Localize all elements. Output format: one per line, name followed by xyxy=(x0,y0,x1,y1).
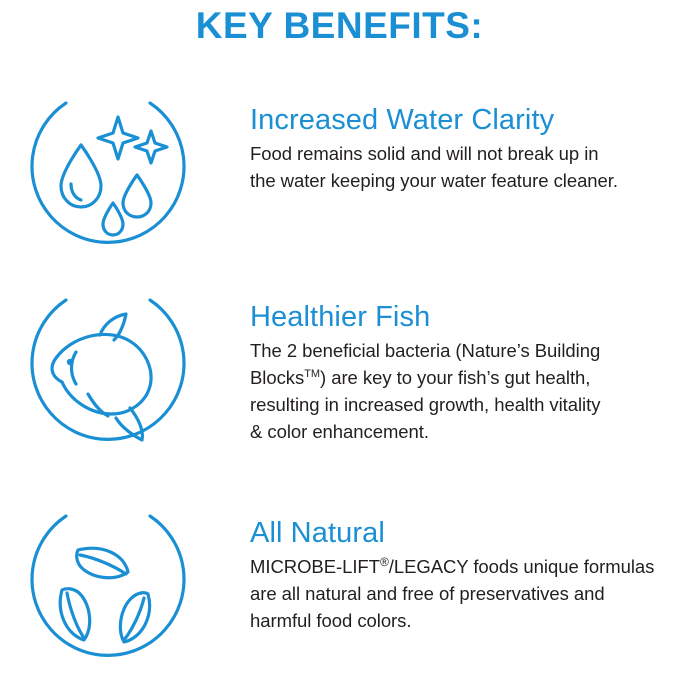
water-drops-sparkle-icon xyxy=(18,85,198,265)
benefit-text-block: Healthier Fish The 2 beneficial bacteria… xyxy=(250,300,675,445)
benefit-body-line: harmful food colors. xyxy=(250,610,411,631)
benefit-body-line: The 2 beneficial bacteria (Nature’s Buil… xyxy=(250,340,600,361)
benefit-body: MICROBE-LIFT®/LEGACY foods unique formul… xyxy=(250,553,675,634)
benefit-text-block: Increased Water Clarity Food remains sol… xyxy=(250,103,675,194)
benefit-body: The 2 beneficial bacteria (Nature’s Buil… xyxy=(250,337,675,445)
registered-mark: ® xyxy=(380,555,389,569)
benefit-body-line: /LEGACY foods unique formulas xyxy=(389,556,655,577)
benefit-title: All Natural xyxy=(250,516,675,550)
benefit-body-line: ) are key to your fish’s gut health, xyxy=(320,367,590,388)
benefit-title: Healthier Fish xyxy=(250,300,675,334)
benefit-body: Food remains solid and will not break up… xyxy=(250,140,675,194)
trademark-superscript: TM xyxy=(304,368,320,380)
benefit-body-line: Food remains solid and will not break up… xyxy=(250,143,599,164)
page-title: KEY BENEFITS: xyxy=(0,0,679,52)
benefit-body-line: resulting in increased growth, health vi… xyxy=(250,394,600,415)
fish-icon xyxy=(18,282,198,462)
benefit-body-line: Blocks xyxy=(250,367,304,388)
benefit-title: Increased Water Clarity xyxy=(250,103,675,137)
benefit-body-line: MICROBE-LIFT xyxy=(250,556,380,577)
benefit-body-line: the water keeping your water feature cle… xyxy=(250,170,618,191)
benefit-body-line: & color enhancement. xyxy=(250,421,429,442)
leaves-recycle-icon xyxy=(18,498,198,678)
benefit-text-block: All Natural MICROBE-LIFT®/LEGACY foods u… xyxy=(250,516,675,634)
benefit-body-line: are all natural and free of preservative… xyxy=(250,583,605,604)
key-benefits-page: KEY BENEFITS: Increased Water Clarity Fo… xyxy=(0,0,679,692)
